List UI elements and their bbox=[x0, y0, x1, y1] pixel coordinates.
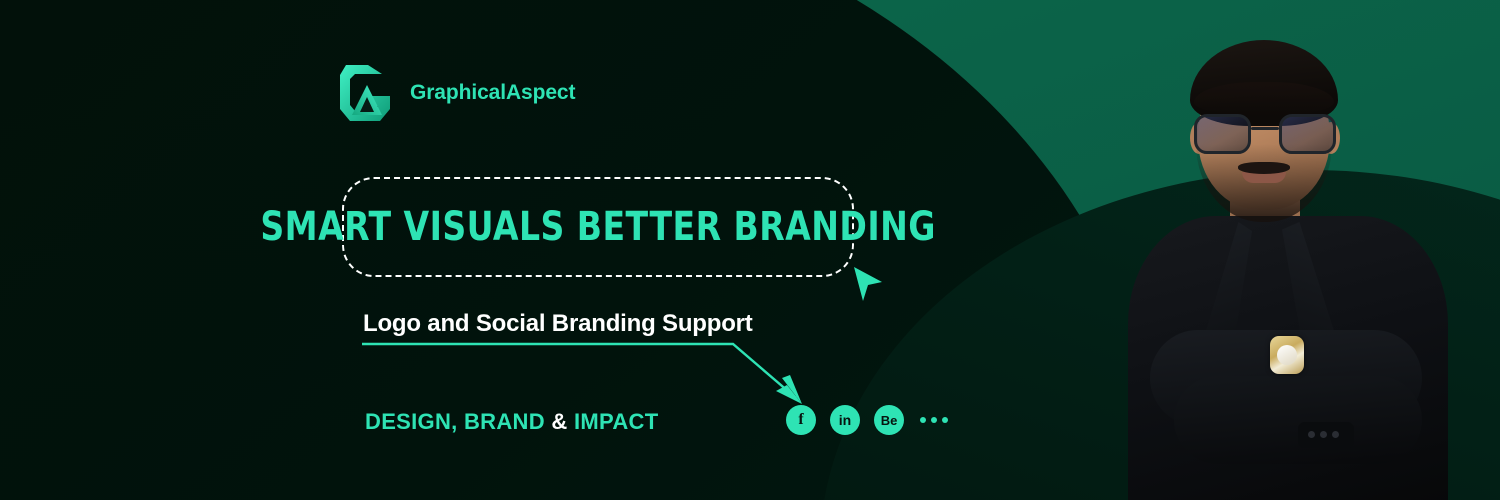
glasses-bridge bbox=[1251, 127, 1279, 130]
headline-text: SMART VISUALS BETTER BRANDING bbox=[260, 204, 936, 250]
tagline: DESIGN, BRAND & IMPACT bbox=[365, 409, 658, 435]
wristwatch-icon bbox=[1270, 336, 1304, 374]
lens-left bbox=[1194, 114, 1251, 154]
arrow-down-right-icon bbox=[358, 336, 828, 408]
dot bbox=[931, 417, 937, 423]
tagline-part-2: IMPACT bbox=[568, 409, 659, 434]
tagline-part-1: DESIGN, BRAND bbox=[365, 409, 551, 434]
tagline-ampersand: & bbox=[551, 409, 567, 434]
brand-name: GraphicalAspect bbox=[410, 81, 575, 105]
lens-right bbox=[1279, 114, 1336, 154]
shirt-cuff bbox=[1298, 422, 1354, 448]
subtitle-text: Logo and Social Branding Support bbox=[363, 310, 753, 338]
dot bbox=[920, 417, 926, 423]
eyeglasses bbox=[1192, 114, 1338, 154]
more-socials-icon[interactable] bbox=[920, 417, 948, 423]
brand-lockup[interactable]: GraphicalAspect bbox=[338, 63, 575, 123]
cursor-pointer-icon bbox=[852, 265, 884, 303]
facebook-icon[interactable]: f bbox=[786, 405, 816, 435]
linkedin-icon[interactable]: in bbox=[830, 405, 860, 435]
social-links: f in Be bbox=[786, 405, 948, 435]
headline-dashed-box: SMART VISUALS BETTER BRANDING bbox=[342, 177, 854, 277]
ga-monogram-logo-icon bbox=[338, 63, 396, 123]
mustache bbox=[1238, 162, 1290, 174]
behance-icon[interactable]: Be bbox=[874, 405, 904, 435]
crossed-arm-lower bbox=[1174, 376, 1422, 464]
promo-banner: GraphicalAspect SMART VISUALS BETTER BRA… bbox=[0, 0, 1500, 500]
dot bbox=[942, 417, 948, 423]
